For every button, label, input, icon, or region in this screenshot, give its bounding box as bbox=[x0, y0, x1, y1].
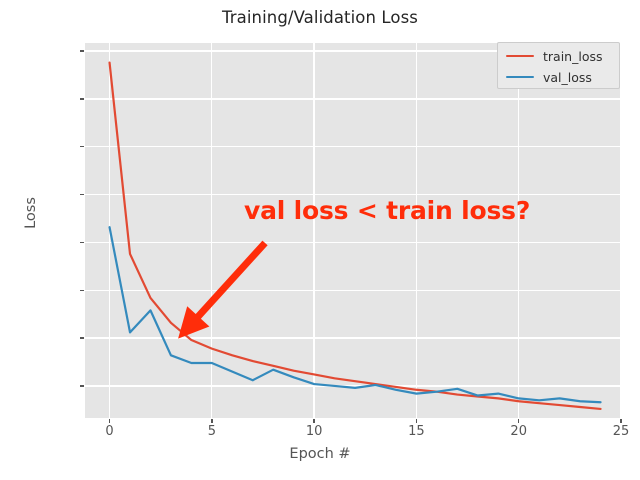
legend-label: train_loss bbox=[543, 49, 603, 64]
y-tick-mark bbox=[80, 50, 84, 51]
x-tick-mark bbox=[518, 419, 519, 423]
legend-swatch-train_loss bbox=[506, 55, 534, 58]
gridline-vertical bbox=[620, 43, 621, 418]
x-tick-label: 5 bbox=[192, 424, 232, 439]
y-tick-mark bbox=[80, 337, 84, 338]
y-tick-mark bbox=[80, 98, 84, 99]
x-tick-mark bbox=[416, 419, 417, 423]
x-tick-mark bbox=[109, 419, 110, 423]
gridline-vertical bbox=[416, 43, 417, 418]
gridline-horizontal bbox=[85, 146, 621, 147]
gridline-vertical bbox=[313, 43, 314, 418]
y-tick-mark bbox=[80, 146, 84, 147]
gridline-vertical bbox=[211, 43, 212, 418]
gridline-horizontal bbox=[85, 337, 621, 338]
annotation-label: val loss < train loss? bbox=[244, 196, 530, 225]
legend-item-val_loss[interactable]: val_loss bbox=[498, 66, 592, 88]
x-tick-mark bbox=[313, 419, 314, 423]
y-tick-mark bbox=[80, 290, 84, 291]
x-tick-mark bbox=[211, 419, 212, 423]
x-tick-label: 25 bbox=[601, 424, 640, 439]
legend[interactable]: train_lossval_loss bbox=[497, 42, 620, 89]
chart-figure: Training/Validation Loss 0.200.250.300.3… bbox=[0, 0, 640, 480]
chart-title: Training/Validation Loss bbox=[0, 8, 640, 27]
gridline-horizontal bbox=[85, 98, 621, 99]
y-tick-mark bbox=[80, 194, 84, 195]
gridline-vertical bbox=[109, 43, 110, 418]
x-tick-label: 15 bbox=[396, 424, 436, 439]
x-tick-label: 10 bbox=[294, 424, 334, 439]
y-tick-mark bbox=[80, 242, 84, 243]
x-axis-label: Epoch # bbox=[0, 446, 640, 462]
gridline-vertical bbox=[518, 43, 519, 418]
y-tick-mark bbox=[80, 385, 84, 386]
gridline-horizontal bbox=[85, 385, 621, 386]
x-tick-label: 20 bbox=[499, 424, 539, 439]
legend-item-train_loss[interactable]: train_loss bbox=[498, 45, 603, 67]
legend-swatch-val_loss bbox=[506, 76, 534, 79]
gridline-horizontal bbox=[85, 242, 621, 243]
y-axis-label: Loss bbox=[23, 168, 39, 258]
x-tick-mark bbox=[620, 419, 621, 423]
gridline-horizontal bbox=[85, 290, 621, 291]
x-tick-label: 0 bbox=[90, 424, 130, 439]
legend-label: val_loss bbox=[543, 70, 592, 85]
plot-area bbox=[85, 43, 621, 418]
